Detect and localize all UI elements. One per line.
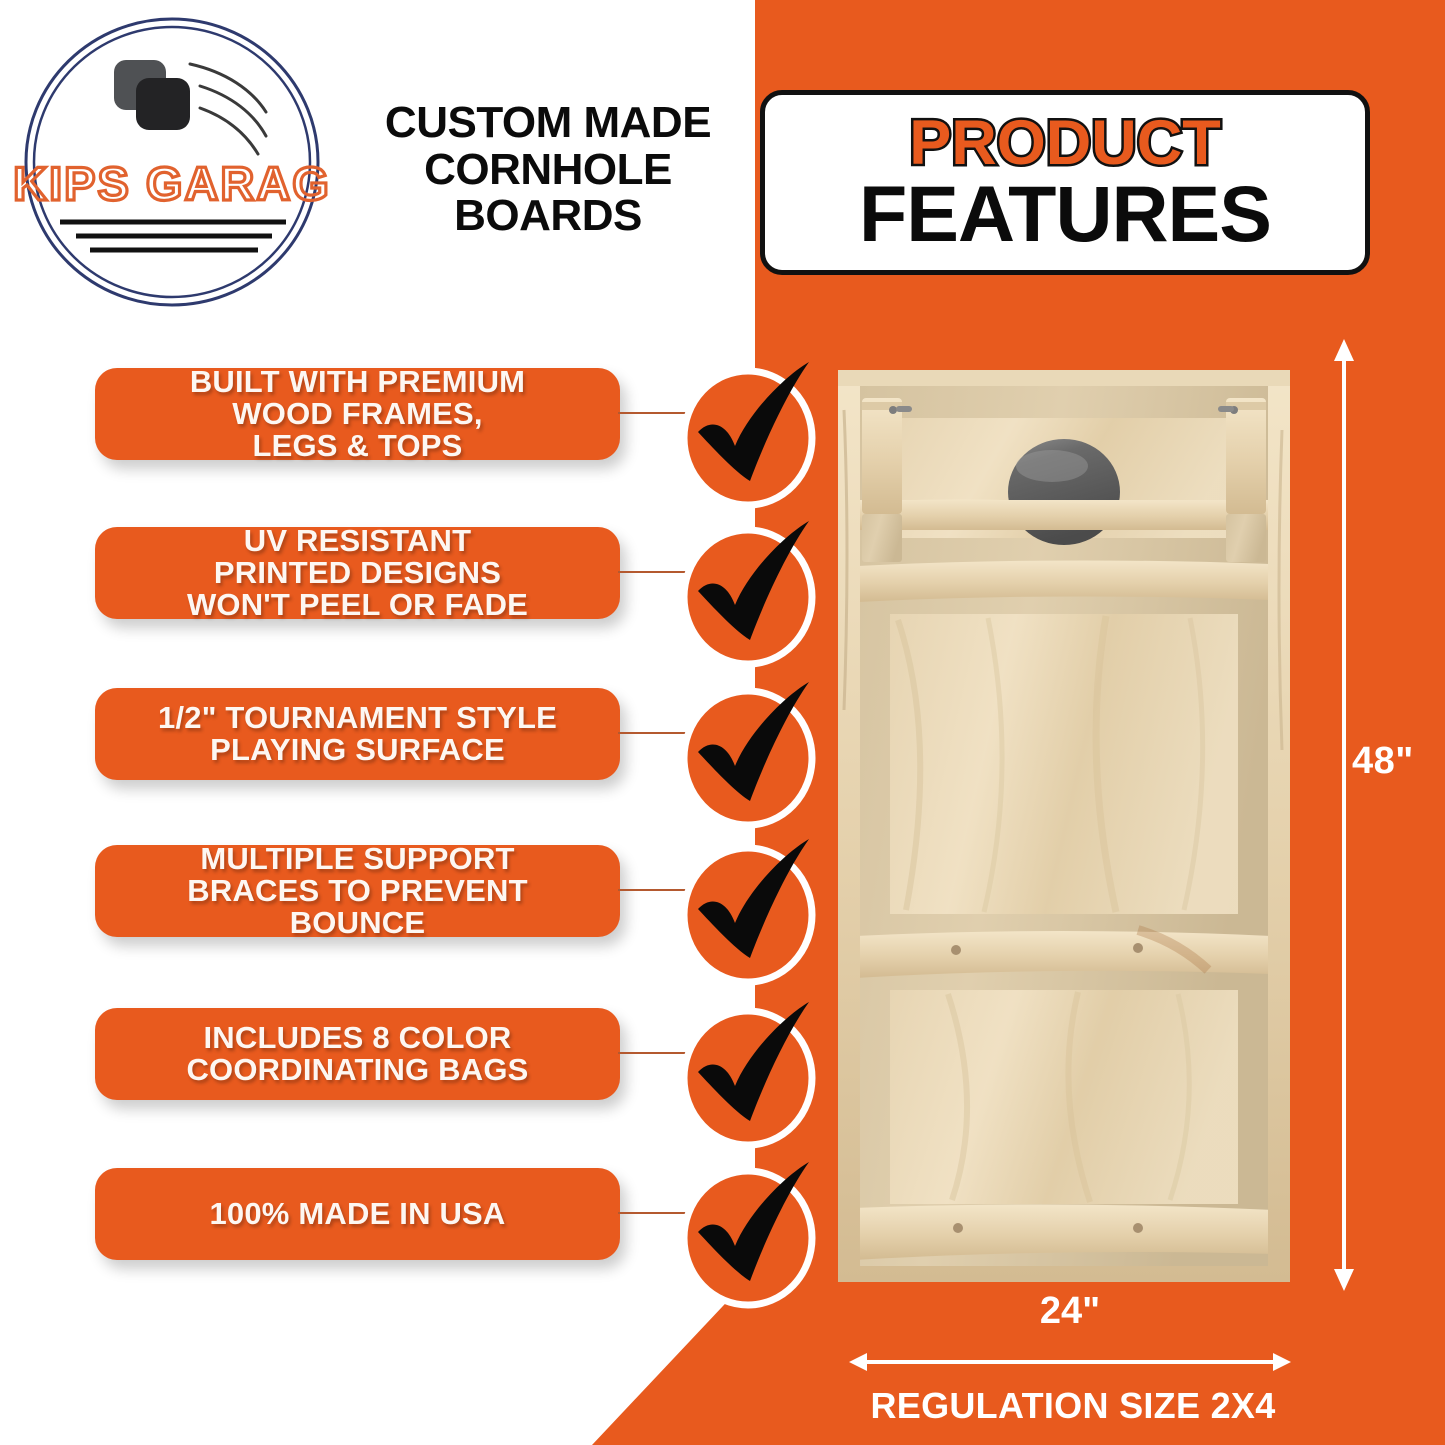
regulation-size-note: REGULATION SIZE 2X4 bbox=[828, 1385, 1318, 1427]
feature-pill[interactable]: BUILT WITH PREMIUM WOOD FRAMES, LEGS & T… bbox=[95, 368, 620, 460]
feature-label: BUILT WITH PREMIUM WOOD FRAMES, LEGS & T… bbox=[190, 366, 525, 463]
check-icon bbox=[681, 827, 815, 967]
feature-label: 100% MADE IN USA bbox=[209, 1198, 505, 1230]
feature-pill[interactable]: 100% MADE IN USA bbox=[95, 1168, 620, 1260]
check-icon bbox=[681, 990, 815, 1130]
brand-logo: SKIPS GARAGE bbox=[14, 14, 330, 310]
product-features-banner: PRODUCT FEATURES bbox=[760, 90, 1370, 275]
feature-label: UV RESISTANT PRINTED DESIGNS WON'T PEEL … bbox=[187, 525, 528, 622]
feature-pill[interactable]: 1/2" TOURNAMENT STYLE PLAYING SURFACE bbox=[95, 688, 620, 780]
width-dimension-arrow bbox=[845, 1350, 1295, 1374]
feature-row: UV RESISTANT PRINTED DESIGNS WON'T PEEL … bbox=[0, 527, 830, 677]
product-photo bbox=[838, 370, 1290, 1282]
feature-label: MULTIPLE SUPPORT BRACES TO PREVENT BOUNC… bbox=[187, 843, 527, 940]
feature-row: MULTIPLE SUPPORT BRACES TO PREVENT BOUNC… bbox=[0, 845, 830, 995]
banner-word-features: FEATURES bbox=[859, 176, 1271, 251]
headline-line-1: CUSTOM MADE bbox=[348, 100, 748, 147]
feature-row: INCLUDES 8 COLOR COORDINATING BAGS bbox=[0, 1008, 830, 1158]
height-dimension-arrow bbox=[1320, 335, 1370, 1295]
check-icon bbox=[681, 509, 815, 649]
headline-line-3: BOARDS bbox=[348, 193, 748, 240]
height-label: 48" bbox=[1352, 740, 1414, 783]
feature-pill[interactable]: INCLUDES 8 COLOR COORDINATING BAGS bbox=[95, 1008, 620, 1100]
check-icon bbox=[681, 1150, 815, 1290]
width-label: 24" bbox=[845, 1290, 1295, 1333]
feature-label: INCLUDES 8 COLOR COORDINATING BAGS bbox=[186, 1022, 528, 1086]
feature-pill[interactable]: UV RESISTANT PRINTED DESIGNS WON'T PEEL … bbox=[95, 527, 620, 619]
infographic-canvas: SKIPS GARAGE CUSTOM MADE CORNHOLE BOARDS… bbox=[0, 0, 1445, 1445]
check-icon bbox=[681, 350, 815, 490]
feature-row: BUILT WITH PREMIUM WOOD FRAMES, LEGS & T… bbox=[0, 368, 830, 518]
feature-row: 100% MADE IN USA bbox=[0, 1168, 830, 1318]
check-icon bbox=[681, 670, 815, 810]
feature-label: 1/2" TOURNAMENT STYLE PLAYING SURFACE bbox=[158, 702, 557, 766]
feature-pill[interactable]: MULTIPLE SUPPORT BRACES TO PREVENT BOUNC… bbox=[95, 845, 620, 937]
banner-word-product: PRODUCT bbox=[909, 114, 1221, 174]
logo-wordmark: SKIPS GARAGE bbox=[14, 157, 330, 210]
headline-line-2: CORNHOLE bbox=[348, 147, 748, 194]
page-title: CUSTOM MADE CORNHOLE BOARDS bbox=[348, 100, 748, 240]
feature-row: 1/2" TOURNAMENT STYLE PLAYING SURFACE bbox=[0, 688, 830, 838]
